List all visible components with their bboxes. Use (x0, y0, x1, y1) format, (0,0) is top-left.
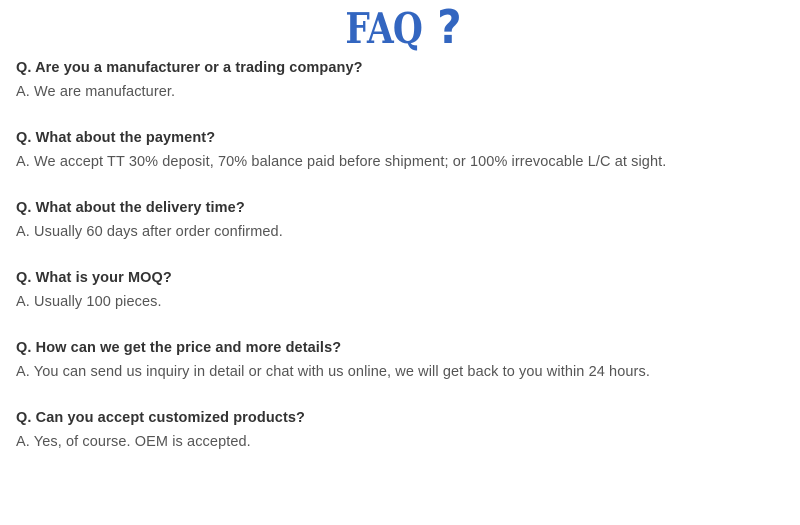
faq-item: Q. Can you accept customized products? A… (16, 406, 790, 454)
faq-question: Q. Are you a manufacturer or a trading c… (16, 56, 790, 80)
faq-question: Q. How can we get the price and more det… (16, 336, 790, 360)
faq-question: Q. What is your MOQ? (16, 266, 790, 290)
page-title: FAQ? (0, 0, 800, 56)
question-mark-icon: ? (437, 2, 462, 52)
faq-question: Q. Can you accept customized products? (16, 406, 790, 430)
faq-answer: A. You can send us inquiry in detail or … (16, 360, 790, 384)
faq-answer: A. Yes, of course. OEM is accepted. (16, 430, 790, 454)
faq-question: Q. What about the payment? (16, 126, 790, 150)
page-title-text: FAQ (345, 4, 422, 54)
faq-item: Q. Are you a manufacturer or a trading c… (16, 56, 790, 104)
faq-item: Q. What about the delivery time? A. Usua… (16, 196, 790, 244)
faq-answer: A. Usually 100 pieces. (16, 290, 790, 314)
faq-page: FAQ? Q. Are you a manufacturer or a trad… (0, 0, 800, 525)
faq-item: Q. How can we get the price and more det… (16, 336, 790, 384)
faq-item: Q. What is your MOQ? A. Usually 100 piec… (16, 266, 790, 314)
faq-answer: A. Usually 60 days after order confirmed… (16, 220, 790, 244)
faq-item: Q. What about the payment? A. We accept … (16, 126, 790, 174)
faq-answer: A. We are manufacturer. (16, 80, 790, 104)
faq-question: Q. What about the delivery time? (16, 196, 790, 220)
faq-list: Q. Are you a manufacturer or a trading c… (0, 56, 800, 454)
faq-answer: A. We accept TT 30% deposit, 70% balance… (16, 150, 790, 174)
